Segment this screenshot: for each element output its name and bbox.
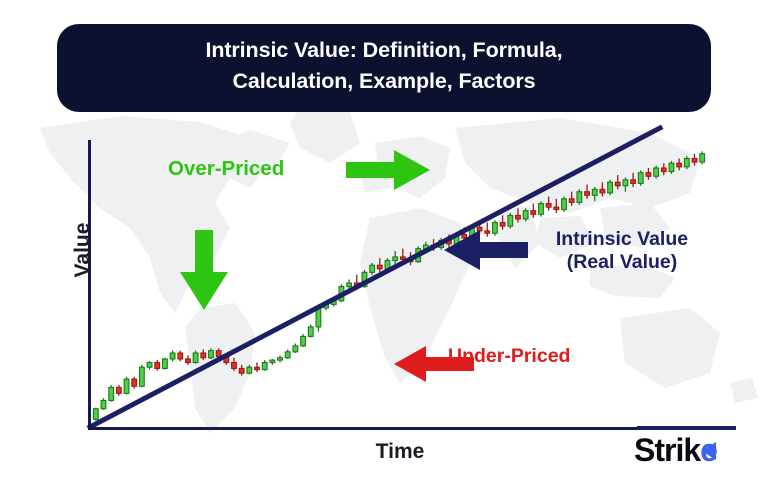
candlestick xyxy=(692,159,697,163)
candlestick xyxy=(608,182,613,193)
candlestick xyxy=(193,353,198,362)
candlestick xyxy=(669,163,674,171)
candlestick xyxy=(278,358,283,360)
candlestick xyxy=(569,199,574,203)
candlestick xyxy=(239,368,244,373)
candlestick xyxy=(163,359,168,368)
candlestick xyxy=(124,379,129,393)
candlestick xyxy=(677,163,682,167)
candlestick xyxy=(615,182,620,186)
candlestick xyxy=(654,168,659,176)
candlestick xyxy=(293,346,298,352)
candlestick xyxy=(646,173,651,177)
candlestick xyxy=(554,207,559,209)
candlestick xyxy=(393,257,398,261)
candlestick xyxy=(577,192,582,203)
candlestick xyxy=(623,180,628,186)
y-axis-label: Value xyxy=(71,195,95,305)
candlestick xyxy=(255,367,260,369)
candlestick xyxy=(170,353,175,359)
candlestick xyxy=(631,180,636,184)
candlestick xyxy=(93,409,98,420)
arrow-right-icon xyxy=(344,148,432,192)
candlestick xyxy=(216,351,221,357)
intrinsic-value-line-2: (Real Value) xyxy=(532,251,712,274)
candlestick xyxy=(101,400,106,408)
candlestick xyxy=(262,363,267,370)
candlestick xyxy=(109,387,114,400)
candlestick xyxy=(308,327,313,336)
candlestick xyxy=(638,173,643,184)
candlestick xyxy=(585,192,590,196)
candlestick xyxy=(700,154,705,162)
infographic-canvas: Intrinsic Value: Definition, Formula, Ca… xyxy=(0,0,768,482)
intrinsic-value-label: Intrinsic Value (Real Value) xyxy=(532,228,712,274)
candlestick xyxy=(201,353,206,358)
candlestick xyxy=(592,189,597,195)
candlestick xyxy=(132,379,137,386)
candlestick xyxy=(377,265,382,269)
candlestick xyxy=(508,215,513,226)
candlestick xyxy=(178,353,183,359)
candlestick xyxy=(147,363,152,368)
logo-rule xyxy=(637,426,736,430)
candlestick xyxy=(209,351,214,358)
arrow-left-icon-navy xyxy=(442,228,530,272)
candlestick xyxy=(232,363,237,369)
arrow-down-icon xyxy=(178,228,230,312)
candlestick xyxy=(500,223,505,227)
candlestick xyxy=(600,189,605,193)
under-priced-label: Under-Priced xyxy=(448,345,570,368)
candlestick xyxy=(285,352,290,358)
over-priced-label: Over-Priced xyxy=(168,157,284,181)
intrinsic-value-line-1: Intrinsic Value xyxy=(532,228,712,251)
brand-logo-dark: Stri xyxy=(634,432,683,468)
candlestick xyxy=(400,257,405,259)
candlestick xyxy=(531,211,536,215)
candlestick xyxy=(370,265,375,272)
candlestick xyxy=(562,199,567,210)
candlestick xyxy=(247,367,252,373)
candlestick xyxy=(155,363,160,369)
candlestick xyxy=(347,283,352,287)
x-axis-label: Time xyxy=(300,440,500,464)
candlestick xyxy=(539,204,544,215)
candlestick xyxy=(546,204,551,208)
candlestick xyxy=(661,168,666,172)
logo-arrow-left-icon xyxy=(692,440,718,462)
candlestick xyxy=(140,367,145,386)
candlestick xyxy=(516,215,521,219)
candlestick xyxy=(684,159,689,167)
candlestick xyxy=(523,211,528,219)
candlestick xyxy=(186,359,191,363)
candlestick xyxy=(301,336,306,345)
x-axis xyxy=(88,427,713,430)
candlestick xyxy=(116,387,121,393)
candlestick xyxy=(270,360,275,362)
